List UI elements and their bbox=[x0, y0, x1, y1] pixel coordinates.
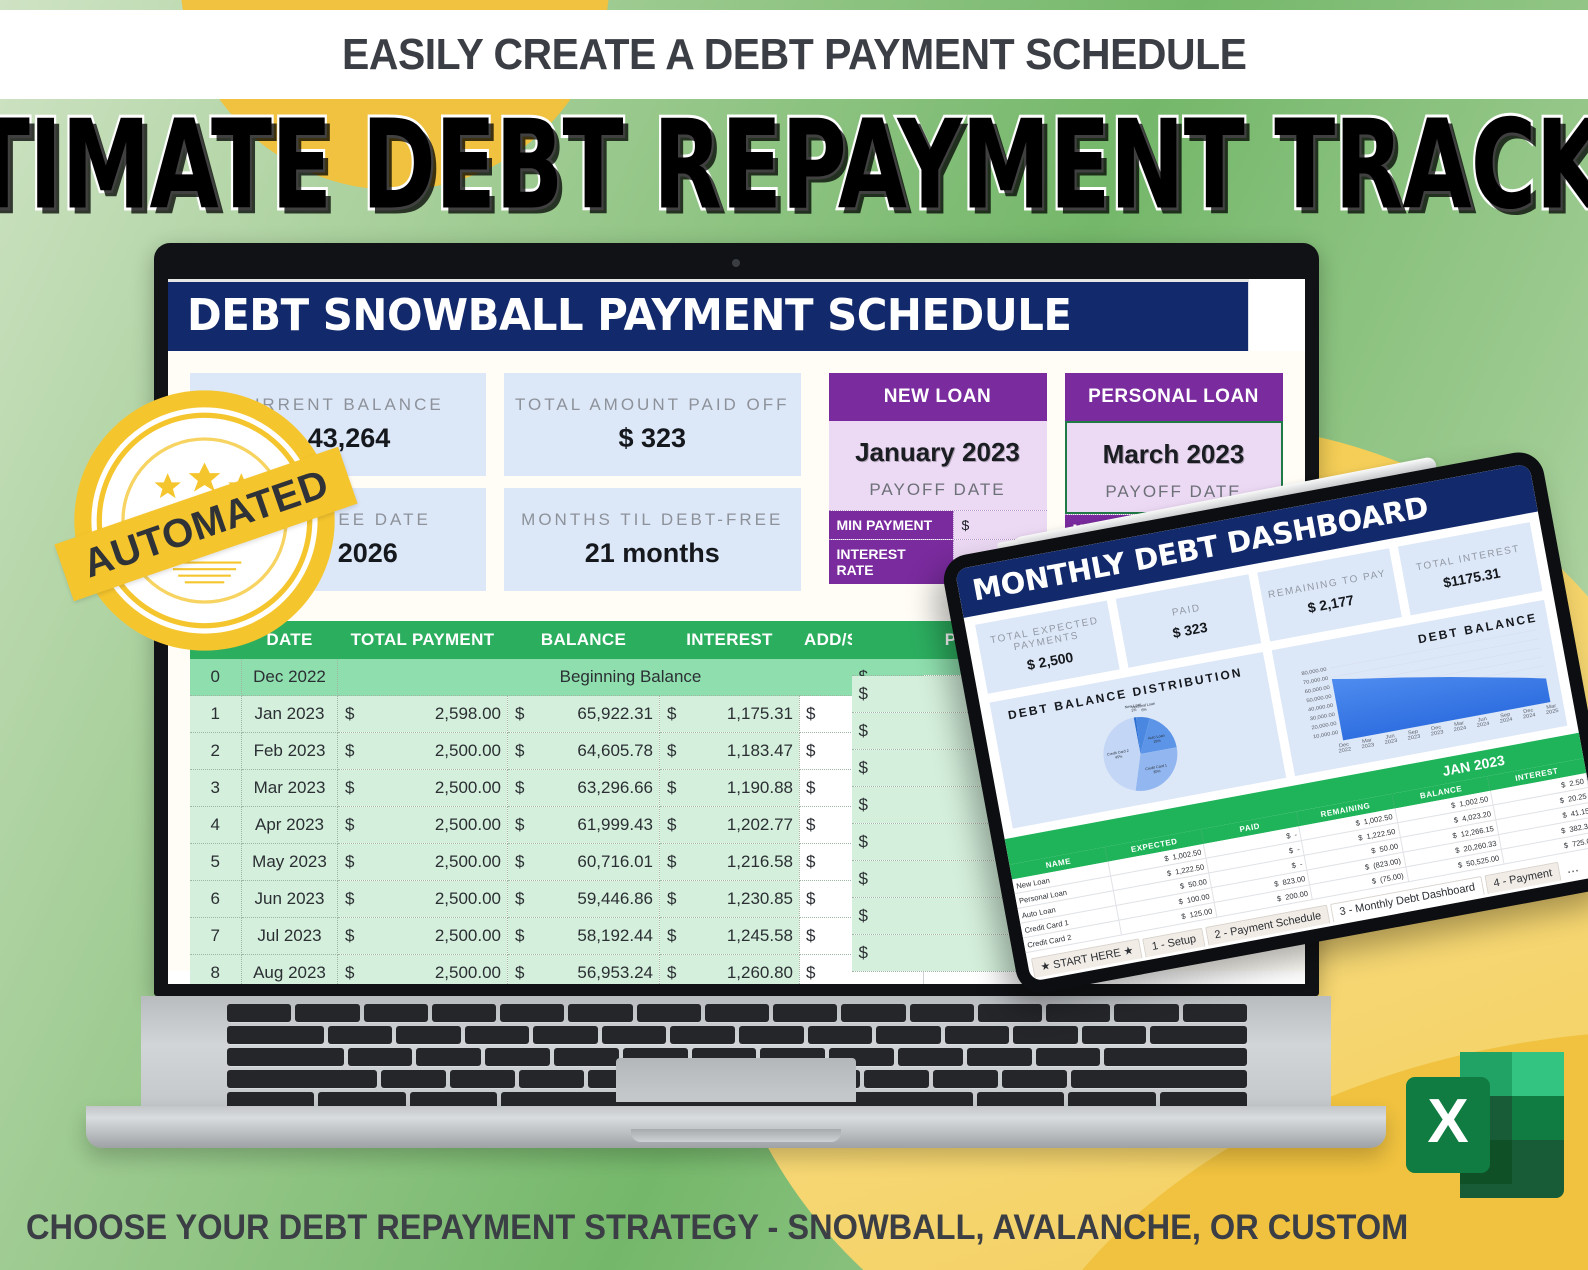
loan-payoff-date: January 2023 bbox=[829, 437, 1047, 468]
table-row: 8Aug 2023$2,500.00$56,953.24$1,260.80$ bbox=[190, 955, 924, 985]
svg-text:X: X bbox=[1427, 1087, 1468, 1156]
loan-card-title: NEW LOAN bbox=[829, 373, 1047, 421]
cell-total-payment: $2,500.00 bbox=[338, 844, 508, 881]
cell-balance: $61,999.43 bbox=[508, 807, 660, 844]
page-title: ULTIMATE DEBT REPAYMENT TRACKER bbox=[0, 104, 1588, 227]
svg-text:2024: 2024 bbox=[1453, 725, 1467, 733]
kpi-value: $ 323 bbox=[618, 423, 686, 454]
kpi-total-paid-off: TOTAL AMOUNT PAID OFF $ 323 bbox=[504, 373, 801, 476]
keyboard-key[interactable] bbox=[977, 1092, 1064, 1106]
cell-interest: $1,175.31 bbox=[660, 696, 800, 733]
keyboard-key[interactable] bbox=[864, 1070, 929, 1088]
keyboard-key[interactable] bbox=[1002, 1070, 1067, 1088]
svg-text:40,000.00: 40,000.00 bbox=[1307, 703, 1333, 713]
cell-interest: $1,183.47 bbox=[660, 733, 800, 770]
table-row-beginning: 0Dec 2022Beginning Balance bbox=[190, 659, 924, 696]
keyboard-key[interactable] bbox=[945, 1026, 1010, 1044]
cell-total-payment: $2,500.00 bbox=[338, 807, 508, 844]
keyboard-key[interactable] bbox=[328, 1026, 393, 1044]
svg-text:60,000.00: 60,000.00 bbox=[1304, 685, 1330, 695]
col-header-total-payment[interactable]: TOTAL PAYMENT bbox=[338, 621, 508, 659]
cell-interest: $1,260.80 bbox=[660, 955, 800, 985]
svg-text:2023: 2023 bbox=[1361, 742, 1375, 750]
svg-text:2025: 2025 bbox=[1545, 708, 1559, 716]
kpi-value: 21 months bbox=[585, 538, 720, 569]
keyboard-key[interactable] bbox=[978, 1004, 1042, 1022]
banner-subtitle: EASILY CREATE A DEBT PAYMENT SCHEDULE bbox=[342, 30, 1246, 80]
key-row[interactable] bbox=[227, 1026, 1247, 1044]
keyboard-key[interactable] bbox=[416, 1048, 481, 1066]
keyboard-key[interactable] bbox=[967, 1048, 1032, 1066]
cell-date: Dec 2022 bbox=[242, 659, 338, 696]
dash-kpi-label: TOTAL INTEREST bbox=[1415, 543, 1521, 573]
cell-interest: $1,216.58 bbox=[660, 844, 800, 881]
payment-schedule-table: NO DATE TOTAL PAYMENT BALANCE INTEREST A… bbox=[190, 621, 925, 984]
keyboard-key[interactable] bbox=[381, 1070, 446, 1088]
svg-text:2023: 2023 bbox=[1384, 738, 1398, 746]
keyboard-key[interactable] bbox=[670, 1026, 735, 1044]
cell-total-payment: $2,500.00 bbox=[338, 955, 508, 985]
keyboard-key[interactable] bbox=[410, 1092, 497, 1106]
col-header-balance[interactable]: BALANCE bbox=[508, 621, 660, 659]
cell-no: 0 bbox=[190, 659, 242, 696]
keyboard-key[interactable] bbox=[227, 1092, 314, 1106]
excel-logo-icon: X bbox=[1402, 1032, 1570, 1218]
keyboard-key[interactable] bbox=[227, 1026, 324, 1044]
pie-chart: New Loan1%Personal Loan6%Auto Loan18%Cre… bbox=[1089, 703, 1192, 806]
webcam-icon bbox=[732, 259, 740, 267]
keyboard-key[interactable] bbox=[808, 1026, 873, 1044]
cell-date: May 2023 bbox=[242, 844, 338, 881]
table-row: 2Feb 2023$2,500.00$64,605.78$1,183.47$ bbox=[190, 733, 924, 770]
keyboard-key[interactable] bbox=[519, 1070, 584, 1088]
dash-kpi-value: $ 2,177 bbox=[1306, 591, 1355, 615]
keyboard-key[interactable] bbox=[554, 1048, 619, 1066]
table-row: 7Jul 2023$2,500.00$58,192.44$1,245.58$ bbox=[190, 918, 924, 955]
cell-beginning-balance: Beginning Balance bbox=[338, 659, 924, 696]
keyboard-key[interactable] bbox=[739, 1026, 804, 1044]
keyboard-key[interactable] bbox=[485, 1048, 550, 1066]
svg-text:20,000.00: 20,000.00 bbox=[1311, 721, 1337, 731]
svg-text:2024: 2024 bbox=[1499, 717, 1513, 725]
cell-balance: $58,192.44 bbox=[508, 918, 660, 955]
key-row[interactable] bbox=[227, 1004, 1247, 1022]
add-sheet-icon[interactable]: + bbox=[1584, 856, 1588, 875]
keyboard-key[interactable] bbox=[318, 1092, 405, 1106]
keyboard-key[interactable] bbox=[364, 1004, 428, 1022]
keyboard-key[interactable] bbox=[1150, 1026, 1247, 1044]
table-row: 6Jun 2023$2,500.00$59,446.86$1,230.85$ bbox=[190, 881, 924, 918]
sheet-tab-overflow-icon[interactable]: ⋯ bbox=[1562, 862, 1584, 879]
loan-min-payment-label: MIN PAYMENT bbox=[829, 511, 953, 539]
table-row: 4Apr 2023$2,500.00$61,999.43$1,202.77$ bbox=[190, 807, 924, 844]
sheet-tab-setup[interactable]: 1 - Setup bbox=[1142, 928, 1205, 958]
cell-no: 8 bbox=[190, 955, 242, 985]
cell-total-payment: $2,598.00 bbox=[338, 696, 508, 733]
sheet-tab-payment[interactable]: 4 - Payment bbox=[1484, 862, 1562, 894]
keyboard-key[interactable] bbox=[910, 1004, 974, 1022]
keyboard-key[interactable] bbox=[227, 1004, 291, 1022]
keyboard-key[interactable] bbox=[432, 1004, 496, 1022]
loan-min-payment-row: MIN PAYMENT $ bbox=[829, 510, 1047, 539]
table-row: 1Jan 2023$2,598.00$65,922.31$1,175.31$ bbox=[190, 696, 924, 733]
dash-kpi-value: $ 323 bbox=[1171, 618, 1208, 640]
cell-no: 2 bbox=[190, 733, 242, 770]
laptop-notch bbox=[631, 1129, 841, 1142]
keyboard-key[interactable] bbox=[533, 1026, 598, 1044]
keyboard-key[interactable] bbox=[637, 1004, 701, 1022]
cell-no: 4 bbox=[190, 807, 242, 844]
cell-balance: $60,716.01 bbox=[508, 844, 660, 881]
svg-text:10,000.00: 10,000.00 bbox=[1312, 730, 1338, 740]
loan-payoff-date: March 2023 bbox=[1067, 439, 1281, 470]
trackpad[interactable] bbox=[616, 1058, 856, 1102]
cell-date: Jan 2023 bbox=[242, 696, 338, 733]
keyboard-key[interactable] bbox=[1013, 1026, 1078, 1044]
cell-no: 6 bbox=[190, 881, 242, 918]
table-row: 3Mar 2023$2,500.00$63,296.66$1,190.88$ bbox=[190, 770, 924, 807]
svg-text:2024: 2024 bbox=[1522, 713, 1536, 721]
svg-text:50,000.00: 50,000.00 bbox=[1306, 694, 1332, 704]
keyboard-key[interactable] bbox=[396, 1026, 461, 1044]
keyboard-key[interactable] bbox=[1068, 1092, 1155, 1106]
keyboard-key[interactable] bbox=[876, 1026, 941, 1044]
keyboard-key[interactable] bbox=[1114, 1004, 1178, 1022]
cell-total-payment: $2,500.00 bbox=[338, 770, 508, 807]
keyboard-key[interactable] bbox=[898, 1048, 963, 1066]
keyboard-key[interactable] bbox=[933, 1070, 998, 1088]
cell-date: Mar 2023 bbox=[242, 770, 338, 807]
cell-balance: $65,922.31 bbox=[508, 696, 660, 733]
kpi-label: MONTHS TIL DEBT-FREE bbox=[521, 510, 783, 530]
cell-date: Aug 2023 bbox=[242, 955, 338, 985]
keyboard-key[interactable] bbox=[1082, 1026, 1147, 1044]
cell-balance: $64,605.78 bbox=[508, 733, 660, 770]
keyboard-key[interactable] bbox=[602, 1026, 667, 1044]
keyboard-key[interactable] bbox=[227, 1070, 377, 1088]
dash-kpi-label: PAID bbox=[1171, 602, 1202, 618]
cell-no: 5 bbox=[190, 844, 242, 881]
bottom-caption: CHOOSE YOUR DEBT REPAYMENT STRATEGY - SN… bbox=[26, 1208, 1408, 1248]
payment-schedule-table-wrapper: NO DATE TOTAL PAYMENT BALANCE INTEREST A… bbox=[190, 621, 824, 984]
laptop-keyboard bbox=[141, 996, 1331, 1106]
cell-date: Jul 2023 bbox=[242, 918, 338, 955]
keyboard-key[interactable] bbox=[348, 1048, 413, 1066]
top-banner: EASILY CREATE A DEBT PAYMENT SCHEDULE bbox=[0, 10, 1588, 99]
cell-interest: $1,245.58 bbox=[660, 918, 800, 955]
svg-text:80,000.00: 80,000.00 bbox=[1301, 667, 1327, 677]
automated-badge: AUTOMATED bbox=[73, 389, 336, 652]
keyboard-key[interactable] bbox=[1036, 1048, 1101, 1066]
spreadsheet-title: DEBT SNOWBALL PAYMENT SCHEDULE bbox=[168, 279, 1248, 351]
table-row: 5May 2023$2,500.00$60,716.01$1,216.58$ bbox=[190, 844, 924, 881]
cell-total-payment: $2,500.00 bbox=[338, 733, 508, 770]
kpi-label: TOTAL AMOUNT PAID OFF bbox=[515, 395, 790, 415]
keyboard-key[interactable] bbox=[450, 1070, 515, 1088]
kpi-months-til-debt-free: MONTHS TIL DEBT-FREE 21 months bbox=[504, 488, 801, 591]
keyboard-key[interactable] bbox=[1160, 1092, 1247, 1106]
cell-total-payment: $2,500.00 bbox=[338, 918, 508, 955]
cell-balance: $63,296.66 bbox=[508, 770, 660, 807]
keyboard-key[interactable] bbox=[1071, 1070, 1247, 1088]
main-title-wrapper: ULTIMATE DEBT REPAYMENT TRACKER bbox=[0, 105, 1588, 225]
svg-text:70,000.00: 70,000.00 bbox=[1302, 676, 1328, 686]
dash-kpi-value: $1175.31 bbox=[1442, 564, 1502, 590]
svg-text:6%: 6% bbox=[1141, 707, 1148, 712]
keyboard-key[interactable] bbox=[1046, 1004, 1110, 1022]
col-header-interest[interactable]: INTEREST bbox=[660, 621, 800, 659]
tablet-screen: MONTHLY DEBT DASHBOARD TOTAL EXPECTED PA… bbox=[955, 463, 1588, 981]
keyboard-key[interactable] bbox=[465, 1026, 530, 1044]
svg-text:2022: 2022 bbox=[1338, 747, 1352, 755]
keyboard-key[interactable] bbox=[500, 1004, 564, 1022]
dash-kpi-value: $ 2,500 bbox=[1026, 649, 1075, 673]
loan-card-body: January 2023 PAYOFF DATE bbox=[829, 421, 1047, 510]
laptop-base bbox=[86, 1106, 1386, 1148]
keyboard-key[interactable] bbox=[227, 1048, 344, 1066]
cell-no: 7 bbox=[190, 918, 242, 955]
loan-card-title: PERSONAL LOAN bbox=[1065, 373, 1283, 421]
cell-no: 3 bbox=[190, 770, 242, 807]
cell-date: Feb 2023 bbox=[242, 733, 338, 770]
svg-text:2024: 2024 bbox=[1476, 721, 1490, 729]
keyboard-key[interactable] bbox=[1104, 1048, 1247, 1066]
keyboard-key[interactable] bbox=[705, 1004, 769, 1022]
keyboard-key[interactable] bbox=[568, 1004, 632, 1022]
cell-interest: $1,190.88 bbox=[660, 770, 800, 807]
cell-interest: $1,230.85 bbox=[660, 881, 800, 918]
cell-interest: $1,202.77 bbox=[660, 807, 800, 844]
cell-date: Jun 2023 bbox=[242, 881, 338, 918]
svg-text:2023: 2023 bbox=[1430, 730, 1444, 738]
svg-text:2023: 2023 bbox=[1407, 734, 1421, 742]
keyboard-key[interactable] bbox=[295, 1004, 359, 1022]
loan-interest-rate-label: INTEREST RATE bbox=[829, 540, 953, 584]
keyboard-key[interactable] bbox=[841, 1004, 905, 1022]
cell-date: Apr 2023 bbox=[242, 807, 338, 844]
cell-no: 1 bbox=[190, 696, 242, 733]
cell-balance: $56,953.24 bbox=[508, 955, 660, 985]
svg-text:30,000.00: 30,000.00 bbox=[1309, 712, 1335, 722]
loan-payoff-label: PAYOFF DATE bbox=[829, 480, 1047, 500]
keyboard-key[interactable] bbox=[1183, 1004, 1247, 1022]
cell-balance: $59,446.86 bbox=[508, 881, 660, 918]
cell-total-payment: $2,500.00 bbox=[338, 881, 508, 918]
keyboard-key[interactable] bbox=[773, 1004, 837, 1022]
